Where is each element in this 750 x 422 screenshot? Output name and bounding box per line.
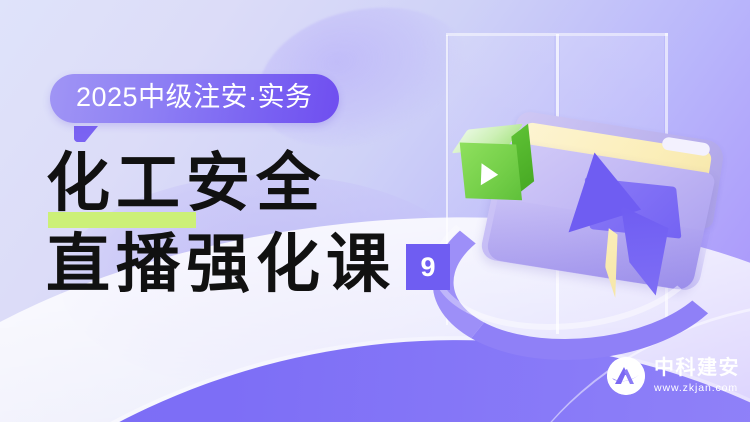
- play-triangle-icon: [481, 163, 499, 186]
- course-promo-banner: 2025中级注安·实务 化工安全 直播强化课 9 中科建安 www.zkjan.…: [0, 0, 750, 422]
- headline-line2-row: 直播强化课 9: [46, 217, 450, 298]
- brand-logo-text: 中科建安 www.zkjan.com: [654, 358, 740, 394]
- headline-group: 化工安全 直播强化课 9: [46, 150, 450, 298]
- episode-number-badge: 9: [406, 244, 450, 290]
- green-play-cube-icon: [454, 123, 533, 202]
- brand-name: 中科建安: [654, 358, 740, 378]
- brand-url: www.zkjan.com: [654, 383, 740, 394]
- brand-logo[interactable]: 中科建安 www.zkjan.com: [607, 357, 740, 395]
- headline-line1: 化工安全: [46, 150, 326, 217]
- headline-line1-row: 化工安全: [46, 150, 450, 217]
- headline-line2: 直播强化课: [46, 231, 396, 298]
- course-category-label: 2025中级注安·实务: [76, 84, 313, 111]
- mountain-peak-icon: [607, 357, 645, 395]
- course-category-badge: 2025中级注安·实务: [50, 74, 339, 123]
- illustration-group: [400, 0, 750, 360]
- speech-bubble-tail: [74, 126, 98, 142]
